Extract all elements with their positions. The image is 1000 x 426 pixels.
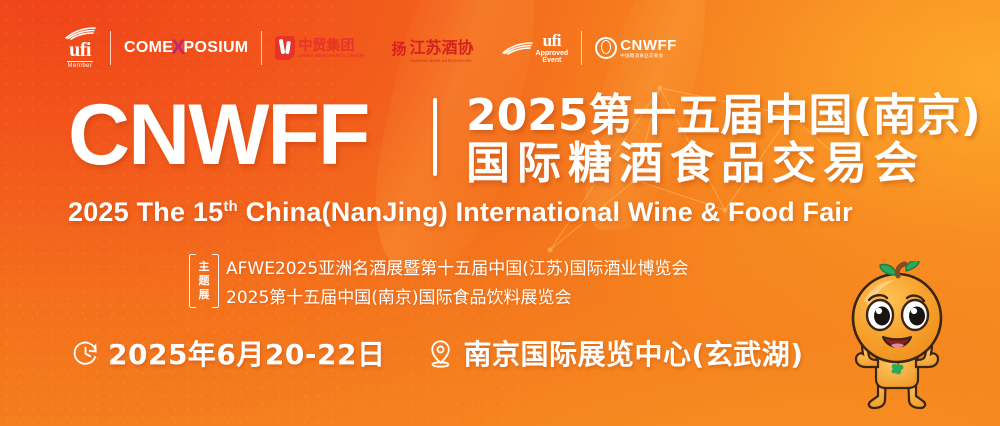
location-pin-icon — [427, 339, 454, 368]
event-location: 南京国际展览中心(玄武湖) — [463, 333, 803, 373]
comexposium-right: POSIUM — [184, 39, 249, 57]
event-date-item: 2025年6月20-22日 — [72, 333, 385, 373]
event-title-en-prefix: 2025 The 15 — [68, 197, 223, 227]
partner-logo-comexposium[interactable]: COME X POSIUM — [111, 26, 261, 70]
event-banner: ufi Member COME X POSIUM 中贸集团 CHINA MERC… — [0, 0, 1000, 426]
theme-badge-char-2: 题 — [199, 274, 210, 288]
zhongmao-mark-icon — [275, 36, 295, 60]
event-acronym: CNWFF — [68, 92, 368, 178]
ufi-event-label: Event — [542, 57, 561, 64]
event-title-en: 2025 The 15th China(NanJing) Internation… — [68, 197, 853, 228]
theme-line-2: 2025第十五届中国(南京)国际食品饮料展览会 — [226, 283, 689, 308]
event-title-cn: 2025第十五届中国(南京) 国际糖酒食品交易会 — [466, 94, 981, 187]
clock-icon — [72, 340, 99, 367]
event-title-en-ordinal: th — [223, 198, 238, 215]
zhongmao-en-name: CHINA MERCHANTS GROUP — [298, 54, 364, 59]
theme-badge-char-1: 主 — [199, 260, 210, 274]
theme-exhibitions: 主 题 展 AFWE2025亚洲名酒展暨第十五届中国(江苏)国际酒业博览会 20… — [192, 254, 689, 308]
mascot-leaf-right-icon — [906, 261, 919, 271]
orange-mascot — [828, 261, 978, 426]
ufi-approved-wordmark: ufi — [543, 32, 561, 50]
event-info-row: 2025年6月20-22日 南京国际展览中心(玄武湖) — [72, 333, 804, 373]
jiangsu-en-name: JIANGSU WINE ASSOCIATION — [410, 58, 474, 63]
ufi-approved-label: Approved — [536, 50, 569, 57]
partner-logo-bar: ufi Member COME X POSIUM 中贸集团 CHINA MERC… — [50, 24, 690, 72]
jiangsu-cn-name: 江苏酒协 — [410, 34, 474, 58]
event-title-cn-line2: 国际糖酒食品交易会 — [466, 142, 981, 187]
partner-logo-jiangsu-wine-association[interactable]: 扬 江苏酒协 JIANGSU WINE ASSOCIATION — [377, 26, 486, 70]
ufi-wing-icon — [500, 42, 534, 55]
event-location-item: 南京国际展览中心(玄武湖) — [427, 333, 803, 373]
cnwff-logo-subtitle: 中国糖酒食品交易会 — [620, 54, 677, 59]
partner-logo-zhongmao-group[interactable]: 中贸集团 CHINA MERCHANTS GROUP — [262, 26, 377, 70]
partner-logo-cnwff[interactable]: CNWFF 中国糖酒食品交易会 — [582, 26, 690, 70]
event-title-en-rest: China(NanJing) International Wine & Food… — [238, 197, 853, 227]
partner-logo-ufi-member[interactable]: ufi Member — [50, 26, 110, 70]
ufi-member-label: Member — [67, 61, 92, 69]
event-title-cn-line1: 2025第十五届中国(南京) — [466, 94, 981, 139]
theme-badge-char-3: 展 — [199, 288, 210, 302]
partner-logo-ufi-approved-event[interactable]: ufi Approved Event — [487, 26, 582, 70]
ufi-wordmark: ufi — [69, 40, 91, 60]
theme-badge: 主 题 展 — [192, 254, 216, 308]
mascot-leaf-left-icon — [880, 264, 896, 275]
comexposium-left: COME — [124, 39, 173, 57]
zhongmao-cn-name: 中贸集团 — [298, 38, 364, 52]
globe-icon — [595, 37, 617, 59]
cnwff-logo-word: CNWFF — [620, 38, 677, 53]
event-date: 2025年6月20-22日 — [108, 333, 385, 373]
headline-divider — [433, 98, 437, 176]
jiangsu-seal-icon: 扬 — [390, 38, 407, 59]
theme-line-1: AFWE2025亚洲名酒展暨第十五届中国(江苏)国际酒业博览会 — [226, 254, 689, 279]
